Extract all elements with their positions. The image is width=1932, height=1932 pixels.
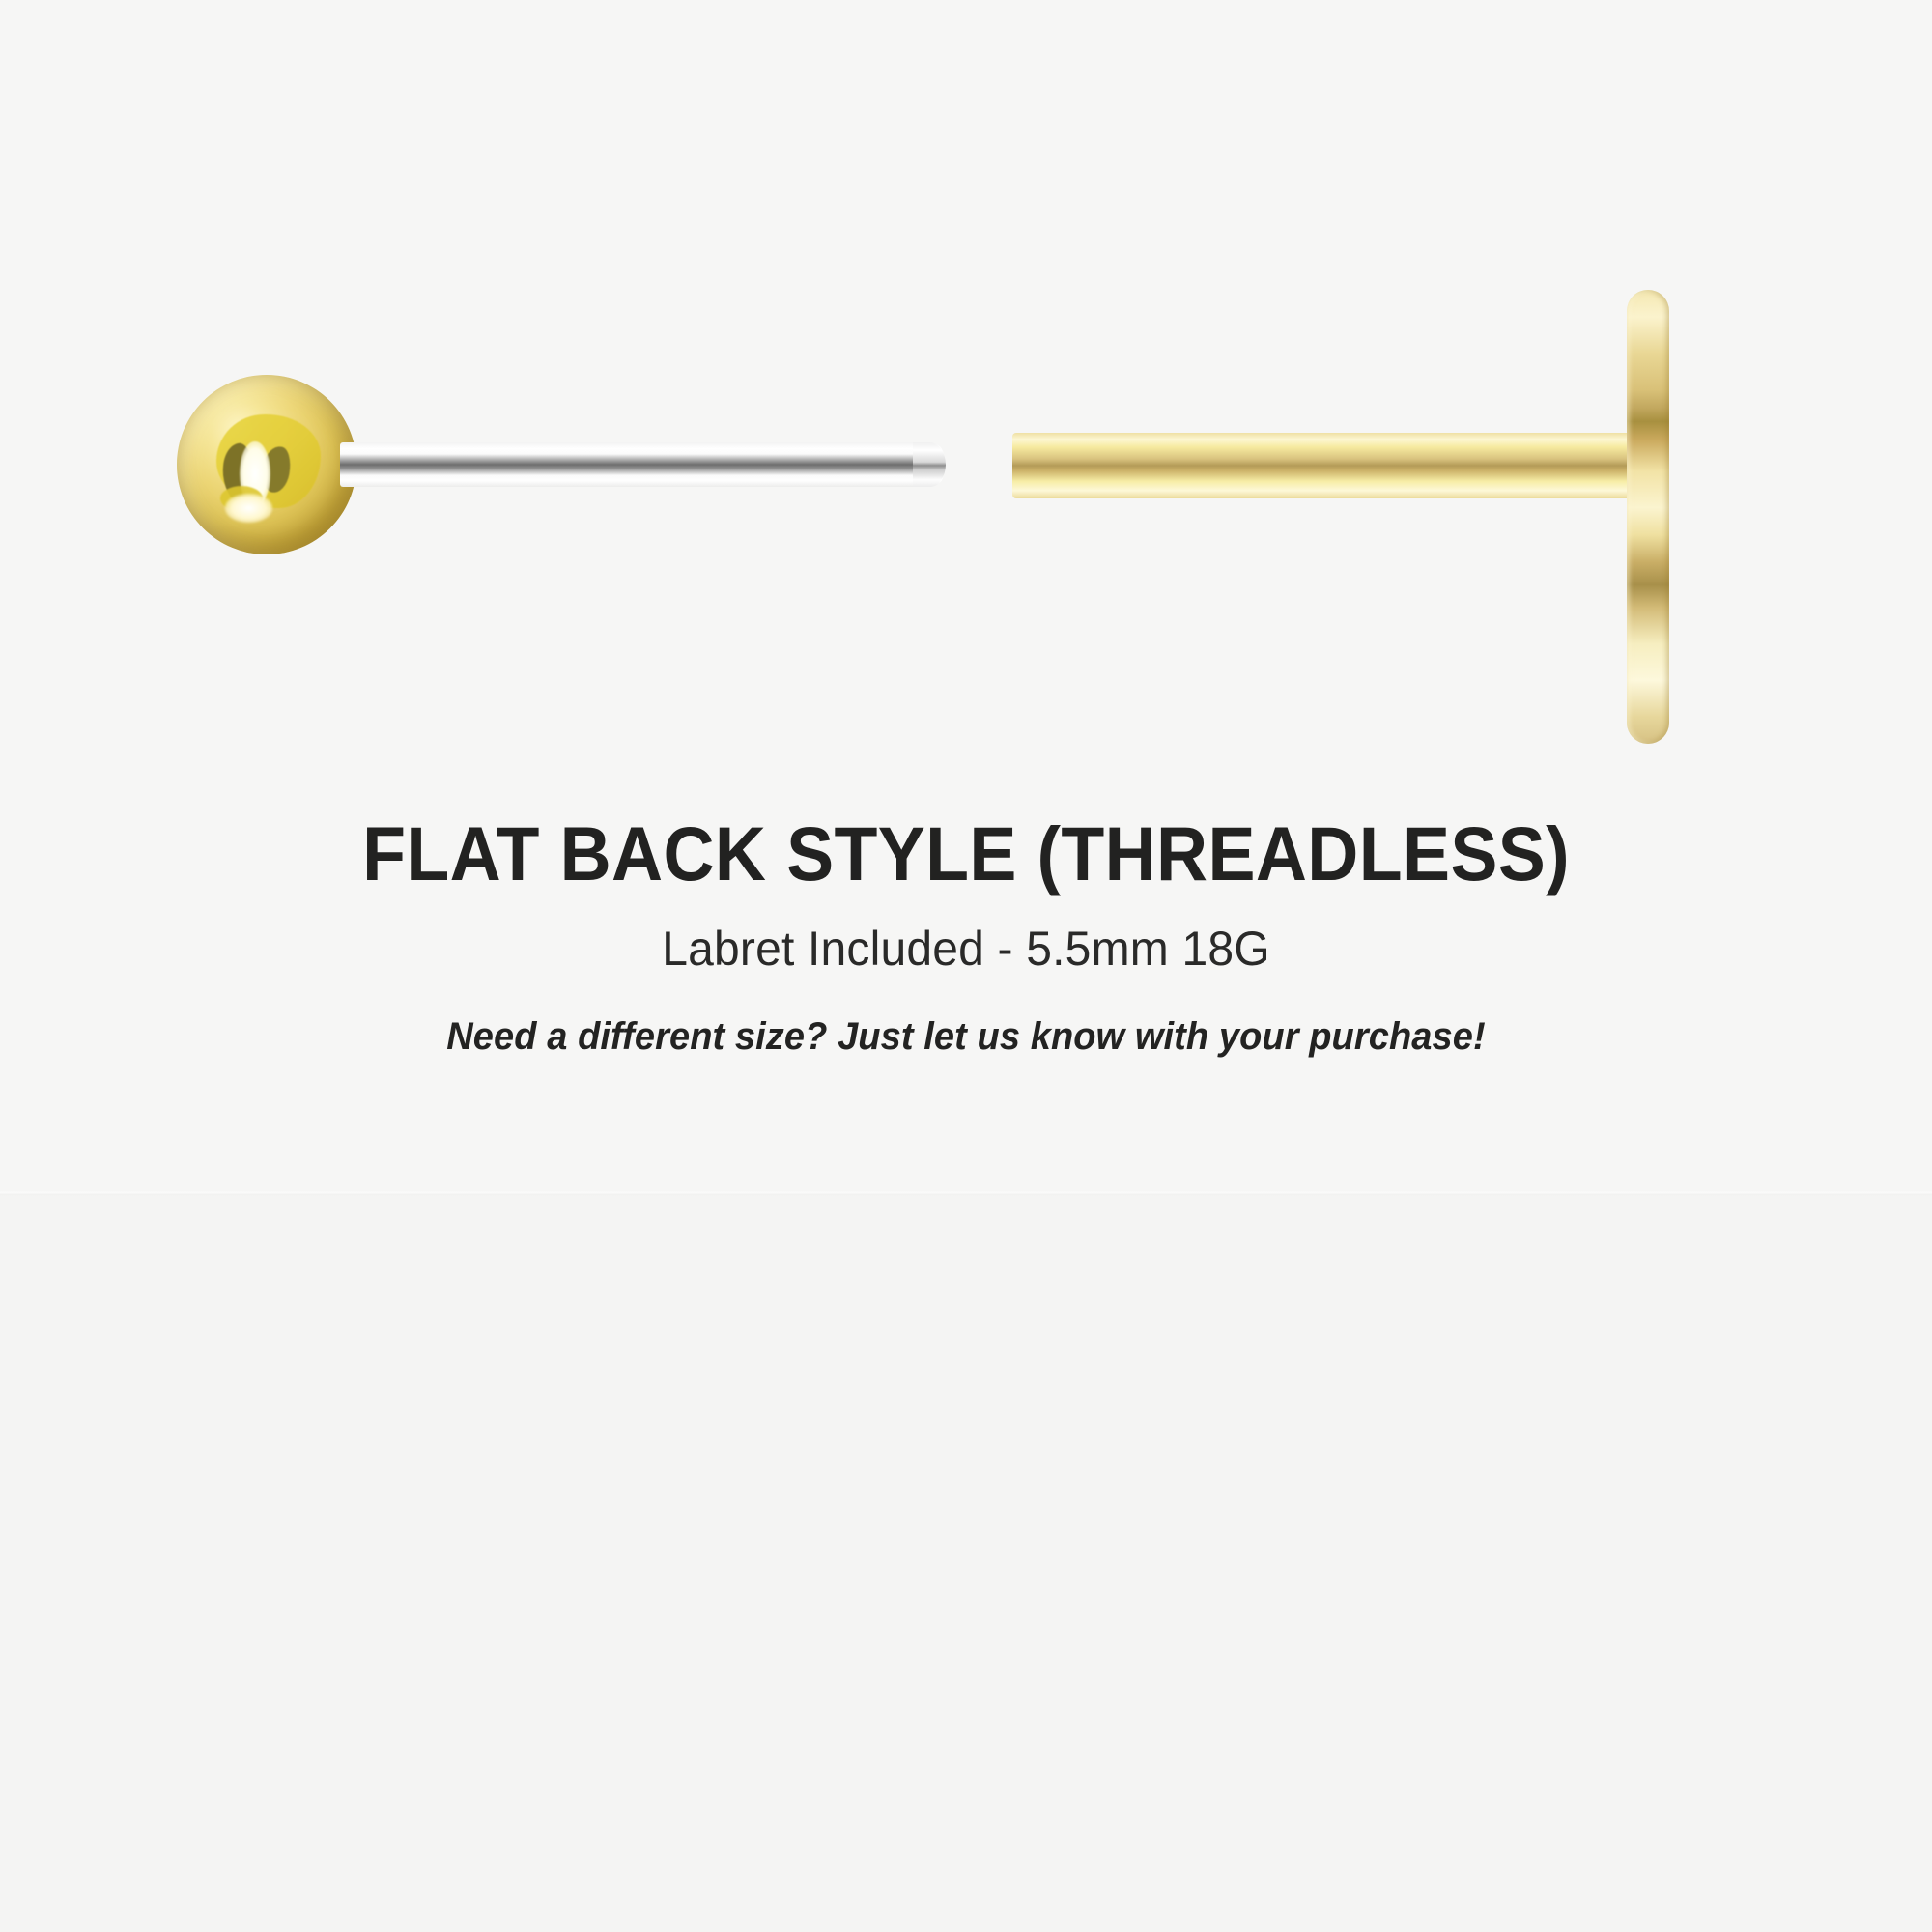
page-subtitle: Labret Included - 5.5mm 18G: [39, 921, 1893, 977]
flat-back-section: FLAT BACK STYLE (THREADLESS) Labret Incl…: [0, 0, 1932, 1195]
post-rounded-tip: [913, 442, 946, 487]
silver-straight-post: [340, 442, 944, 487]
infographic-canvas: FLAT BACK STYLE (THREADLESS) Labret Incl…: [0, 0, 1932, 1932]
flat-back-disc: [1627, 290, 1669, 744]
size-note: Need a different size? Just let us know …: [48, 1015, 1884, 1059]
page-title: FLAT BACK STYLE (THREADLESS): [68, 810, 1864, 898]
ball-rim-shading: [177, 375, 356, 554]
gold-ball-stud-top: [177, 375, 356, 554]
gold-labret-bar: [1012, 433, 1650, 498]
butterfly-back-section: TRADITIONAL BUTTERFLY BACK STYLE: [0, 1196, 1932, 1932]
